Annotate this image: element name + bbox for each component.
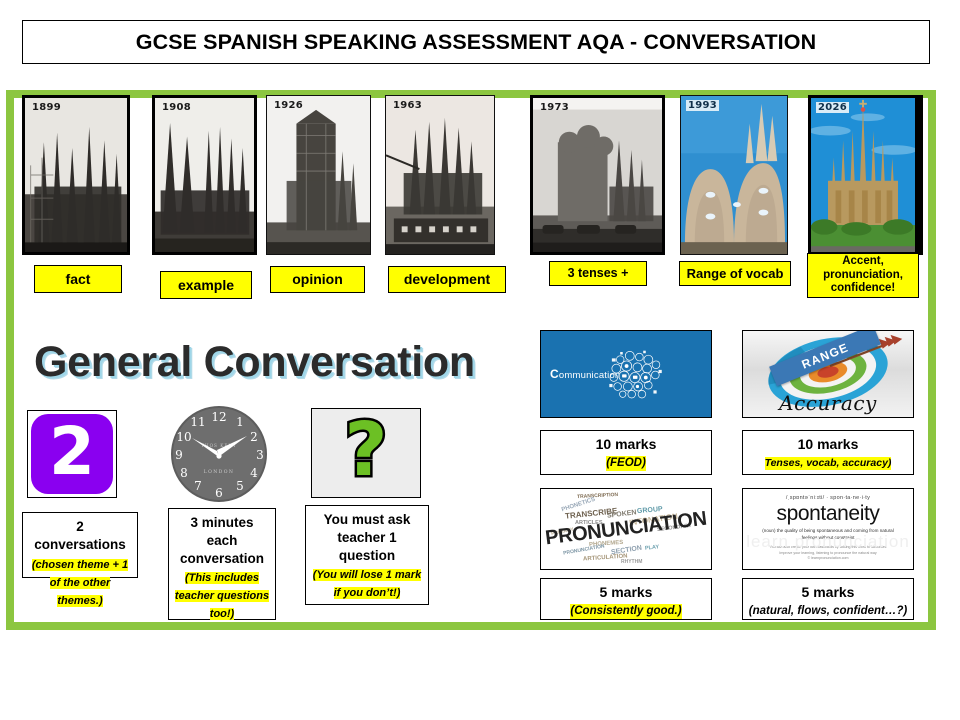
info-line-2: conversations xyxy=(27,536,133,554)
timeline-year-1926: 1926 xyxy=(272,100,305,111)
info-line-3: question xyxy=(310,547,424,565)
svg-text:8: 8 xyxy=(180,466,188,480)
caption-fact: fact xyxy=(34,265,122,293)
slide-canvas: GCSE SPANISH SPEAKING ASSESSMENT AQA - C… xyxy=(0,0,960,720)
spontaneity-marks-box: 5 marks (natural, flows, confident…?) xyxy=(742,578,914,620)
timeline-photo-1973: 1973 xyxy=(530,95,665,255)
accuracy-word: Accuracy xyxy=(779,391,877,415)
info-line-2: teacher 1 xyxy=(310,529,424,547)
caption-example: example xyxy=(160,271,252,299)
number-two-tile: 2 xyxy=(27,410,117,498)
section-heading: General Conversation xyxy=(34,338,475,387)
marks-value: 5 marks xyxy=(746,583,910,601)
info-line-2: each xyxy=(173,532,271,550)
timeline-photo-2026: 2026 xyxy=(808,95,918,255)
pronunciation-wordcloud-graphic: TRANSCRIPTION PHONETICS TRANSCRIBE ARTIC… xyxy=(541,489,711,569)
number-two-value: 2 xyxy=(49,419,95,485)
marks-subtext: (natural, flows, confident…?) xyxy=(749,604,907,618)
svg-text:4: 4 xyxy=(250,466,258,480)
page-title: GCSE SPANISH SPEAKING ASSESSMENT AQA - C… xyxy=(136,30,816,55)
info-line-1: 2 xyxy=(27,518,133,536)
communication-marks-box: 10 marks (FEOD) xyxy=(540,430,712,475)
accuracy-marks-box: 10 marks Tenses, vocab, accuracy) xyxy=(742,430,914,475)
pronunciation-marks-box: 5 marks (Consistently good.) xyxy=(540,578,712,620)
svg-text:9: 9 xyxy=(175,448,183,462)
communication-image: CCommunicationommunication xyxy=(540,330,712,418)
marks-subtext: (Consistently good.) xyxy=(570,604,681,618)
clock-icon: 1212 345 678 91011 THOS KENT LONDON xyxy=(168,403,270,505)
timeline-year-1963: 1963 xyxy=(391,100,424,111)
timeline-photo-1926: 1926 xyxy=(266,95,371,255)
timeline-photo-1908: 1908 xyxy=(152,95,257,255)
timeline-year-1993: 1993 xyxy=(686,100,719,111)
timeline-photo-1993: 1993 xyxy=(680,95,788,255)
marks-value: 10 marks xyxy=(746,435,910,453)
sagrada-familia-1908-photo xyxy=(155,98,254,252)
svg-text:11: 11 xyxy=(190,415,205,429)
cloud-word: PLAY xyxy=(645,544,660,551)
accuracy-image: RANGE Accuracy xyxy=(742,330,914,418)
spontaneity-image: learn pronunciation /ˌspɒntəˈniːɪti/ · s… xyxy=(742,488,914,570)
marks-subtext: Tenses, vocab, accuracy) xyxy=(765,457,892,470)
info-box-duration: 3 minutes each conversation (This includ… xyxy=(168,508,276,620)
svg-text:5: 5 xyxy=(236,479,244,493)
pronunciation-image: TRANSCRIPTION PHONETICS TRANSCRIBE ARTIC… xyxy=(540,488,712,570)
communication-graphic: CCommunicationommunication xyxy=(541,331,711,417)
page-title-box: GCSE SPANISH SPEAKING ASSESSMENT AQA - C… xyxy=(22,20,930,64)
cloud-word: TRANSCRIPTION xyxy=(577,492,618,500)
question-mark-tile: ? xyxy=(311,408,421,498)
svg-text:7: 7 xyxy=(194,479,202,493)
sagrada-familia-1899-photo xyxy=(25,98,127,252)
svg-text:2: 2 xyxy=(250,430,258,444)
timeline-year-1973: 1973 xyxy=(538,102,571,113)
sagrada-familia-1926-photo xyxy=(267,96,370,254)
info-note: (This includes teacher questions too!) xyxy=(175,572,269,620)
timeline-year-2026: 2026 xyxy=(816,102,849,113)
svg-text:3: 3 xyxy=(256,448,264,462)
svg-text:6: 6 xyxy=(215,486,223,500)
caption-development: development xyxy=(388,266,506,293)
info-line-3: conversation xyxy=(173,550,271,568)
spontaneity-footnote: You can also create your own flashcards … xyxy=(743,545,913,562)
svg-text:12: 12 xyxy=(211,410,226,424)
info-box-ask-question: You must ask teacher 1 question (You wil… xyxy=(305,505,429,605)
caption-accent-pronunciation: Accent, pronunciation, confidence! xyxy=(807,253,919,298)
marks-subtext: (FEOD) xyxy=(606,456,646,470)
timeline-photo-1899: 1899 xyxy=(22,95,130,255)
spontaneity-definition: (noun) the quality of being spontaneous … xyxy=(743,528,913,542)
caption-3-tenses: 3 tenses + xyxy=(549,261,647,286)
sagrada-familia-1993-photo xyxy=(681,96,787,254)
timeline-photo-1963: 1963 xyxy=(385,95,495,255)
info-line-1: You must ask xyxy=(310,511,424,529)
svg-text:LONDON: LONDON xyxy=(204,469,235,475)
marks-value: 10 marks xyxy=(544,435,708,453)
question-mark-icon: ? xyxy=(345,413,388,487)
number-two-badge: 2 xyxy=(31,414,113,494)
timeline-year-1899: 1899 xyxy=(30,102,63,113)
marks-value: 5 marks xyxy=(544,583,708,601)
info-line-1: 3 minutes xyxy=(173,514,271,532)
svg-text:10: 10 xyxy=(176,430,191,444)
sagrada-familia-1973-photo xyxy=(533,98,662,252)
spontaneity-word: spontaneity xyxy=(743,503,913,524)
spontaneity-ipa: /ˌspɒntəˈniːɪti/ · spon·ta·ne·i·ty xyxy=(743,495,913,501)
info-note: (You will lose 1 mark if you don’t!) xyxy=(313,569,421,599)
cloud-word: RHYTHM xyxy=(621,559,642,565)
sagrada-familia-1963-photo xyxy=(386,96,494,254)
info-note: (chosen theme + 1 of the other themes.) xyxy=(32,559,128,607)
accuracy-target-graphic: RANGE Accuracy xyxy=(743,331,913,417)
sagrada-familia-2026-photo xyxy=(811,98,915,252)
info-box-conversations: 2 conversations (chosen theme + 1 of the… xyxy=(22,512,138,578)
caption-opinion: opinion xyxy=(270,266,365,293)
spontaneity-dictionary-graphic: learn pronunciation /ˌspɒntəˈniːɪti/ · s… xyxy=(743,495,913,570)
timeline-year-1908: 1908 xyxy=(160,102,193,113)
caption-range-of-vocab: Range of vocab xyxy=(679,261,791,286)
svg-text:1: 1 xyxy=(236,415,244,429)
